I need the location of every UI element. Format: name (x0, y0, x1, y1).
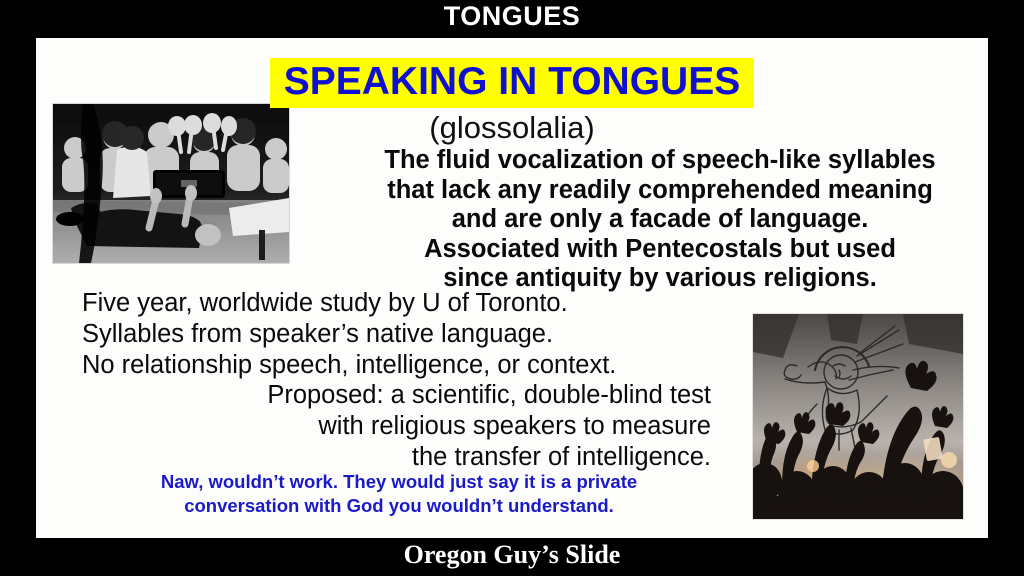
commentary-line: Naw, wouldn’t work. They would just say … (54, 470, 744, 494)
commentary-line: conversation with God you wouldn’t under… (54, 494, 744, 518)
findings-line: No relationship speech, intelligence, or… (82, 350, 742, 381)
page-title-headline: SPEAKING IN TONGUES (270, 58, 755, 108)
definition-line: that lack any readily comprehended meani… (336, 176, 984, 206)
worship-crowd-photo (752, 313, 964, 520)
definition-paragraph: The fluid vocalization of speech-like sy… (336, 146, 984, 294)
proposal-paragraph: Proposed: a scientific, double-blind tes… (146, 380, 711, 473)
subhead-glossolalia: (glossolalia) (36, 110, 988, 146)
study-findings-paragraph: Five year, worldwide study by U of Toron… (82, 288, 742, 381)
slide-root: TONGUES (0, 0, 1024, 576)
worship-crowd-photo-graphic (753, 314, 963, 519)
headline-container: SPEAKING IN TONGUES (36, 58, 988, 108)
definition-line: and are only a facade of language. (336, 205, 984, 235)
definition-line: Associated with Pentecostals but used (336, 235, 984, 265)
proposal-line: Proposed: a scientific, double-blind tes… (146, 380, 711, 411)
findings-line: Five year, worldwide study by U of Toron… (82, 288, 742, 319)
definition-line: The fluid vocalization of speech-like sy… (336, 146, 984, 176)
findings-line: Syllables from speaker’s native language… (82, 319, 742, 350)
frame-footer-attribution: Oregon Guy’s Slide (0, 538, 1024, 574)
frame-title: TONGUES (0, 0, 1024, 36)
proposal-line: the transfer of intelligence. (146, 442, 711, 473)
commentary-paragraph: Naw, wouldn’t work. They would just say … (54, 470, 744, 517)
proposal-line: with religious speakers to measure (146, 411, 711, 442)
slide-canvas: SPEAKING IN TONGUES (glossolalia) The fl… (36, 38, 988, 538)
